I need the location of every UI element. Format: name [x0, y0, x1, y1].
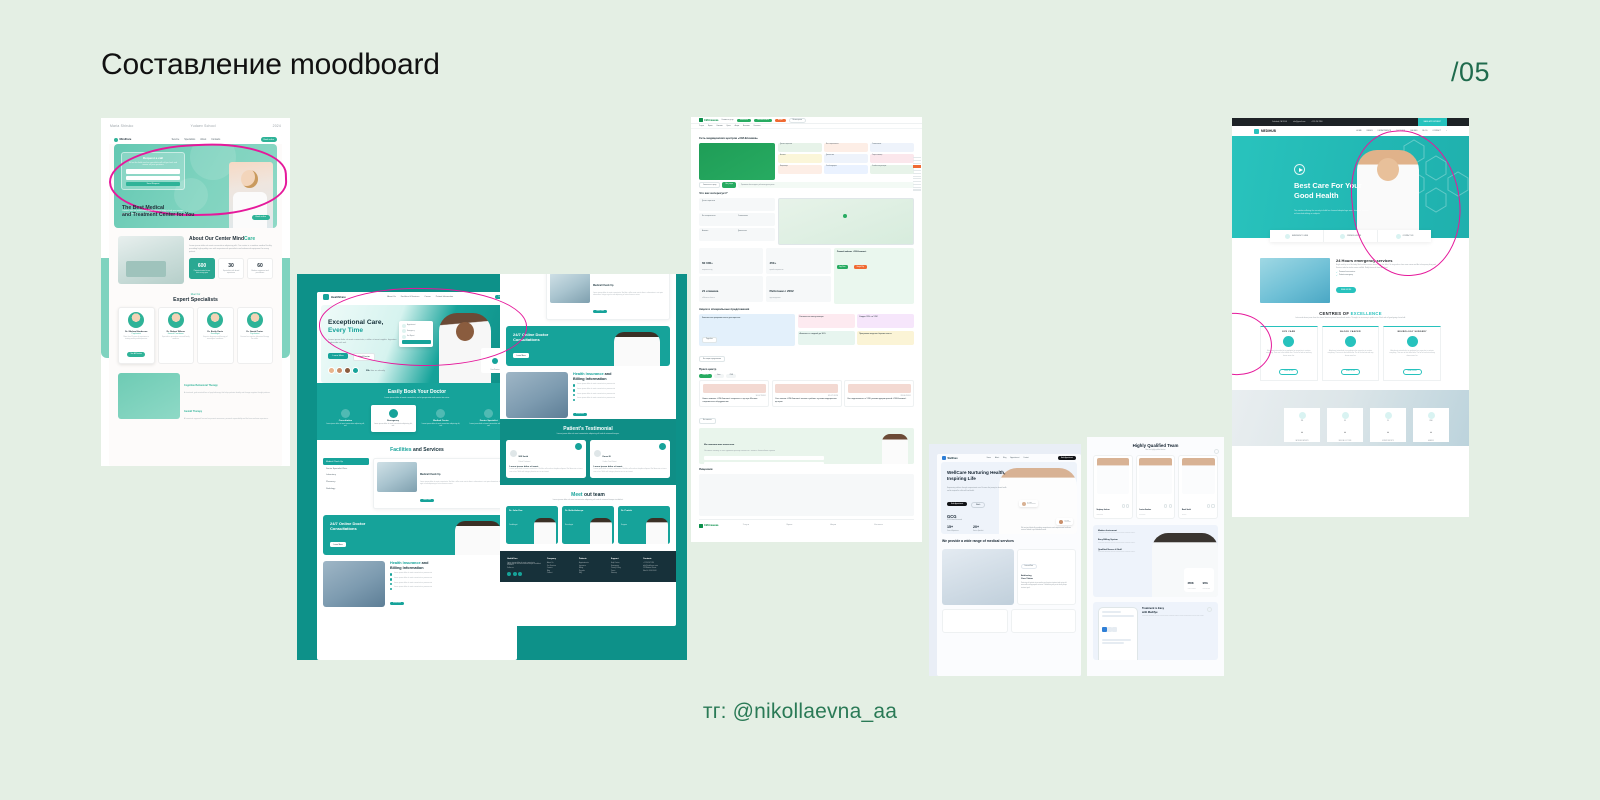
news-card[interactable]: 28.06.2024Как подготовиться к УЗИ: реком…	[844, 380, 914, 407]
featured-card: Featured Point AchievingYour Vision Part…	[1017, 549, 1076, 605]
hero-headline-2: and Treatment Center for You	[122, 212, 194, 219]
wellcare-hero-paragraph: Empowering wellness through compassionat…	[947, 488, 1009, 493]
mock3-section2-title: Что вас интересует?	[699, 191, 914, 195]
reports-icon	[1385, 412, 1392, 419]
stat-value: 89+	[1327, 421, 1363, 436]
service-card[interactable]: Все специальности	[702, 216, 736, 224]
news-card[interactable]: 02.07.2024Сеть клиник «СМ-Клиника» вошла…	[772, 380, 842, 407]
stat-value: 50+	[1370, 421, 1406, 436]
services-paragraph: We treat you holistically, providing com…	[1021, 528, 1075, 533]
highlight-label: GCG Patient Recovered	[947, 520, 962, 521]
therapy-photo	[118, 373, 180, 419]
opening-hours-item[interactable]: OPENING HOURS	[1324, 230, 1378, 242]
service-card[interactable]: Детям и взрослым	[699, 198, 775, 211]
insurance-bullet: Lorem ipsum dolor sit amet consectetur a…	[390, 573, 432, 576]
booking-item[interactable]: Medical CenterLorem ipsum dolor sit amet…	[419, 405, 464, 432]
app-promo[interactable]: Личный кабинет «СМ-Клиника» App Store Go…	[834, 248, 914, 304]
team-member-card[interactable]: Dr. Bella AckeeyaNeurologist	[562, 506, 614, 544]
find-doctor-button[interactable]: Find Doctor	[353, 353, 375, 361]
promo-card[interactable]: Программа ведения беременности	[857, 331, 914, 346]
service-card[interactable]: Стоматология	[738, 216, 772, 224]
request-call-form[interactable]: Request a call Fill out the fields and o…	[121, 152, 185, 190]
chevron-right-icon[interactable]	[1214, 449, 1219, 454]
mock1-school: Yudaev School	[190, 124, 215, 128]
wellcare-nav-links[interactable]: HomeAboutBlogAppointmentContact	[987, 458, 1029, 459]
social-proof: 55k Join us already	[328, 367, 385, 374]
bottom-card[interactable]	[942, 609, 1008, 633]
member-photo	[534, 518, 556, 544]
doctor-tag: Dr. HanaTop Cardiologist	[1019, 500, 1038, 507]
alert-icon	[402, 329, 406, 333]
mock3-hero-actions[interactable]: Записаться к врачу Все услуги Принимаем …	[699, 182, 914, 188]
stat-item: 96%Success Rate	[1203, 571, 1210, 590]
moodboard-slide: Составление moodboard /05 Maria Shiruko …	[0, 0, 1600, 800]
booking-item[interactable]: ConsultationLorem ipsum dolor sit amet c…	[323, 405, 368, 432]
promos-button[interactable]: Акции	[775, 119, 785, 122]
about-title: About Our Center MindCare	[189, 236, 273, 242]
avatar	[207, 312, 223, 328]
service-strip[interactable]: EMERGENCY CASE OPENING HOURS CONTACT US	[1270, 230, 1431, 242]
mock3-promos-title: Акции и специальные предложения	[699, 307, 914, 311]
mock1-navbar[interactable]: MindCare Service Specialists About Conta…	[109, 135, 282, 144]
facilities-section: Facilities and Services Medical Check Up…	[317, 440, 517, 614]
mock1-hero: Request a call Fill out the fields and o…	[114, 144, 277, 228]
testimonial-section: Patient's Testimonial Lorem ipsum dolor …	[500, 419, 676, 485]
clinic-photo	[118, 236, 184, 284]
appointment-card[interactable]: Appointment Emergency Get Report	[399, 321, 433, 347]
stat-card: 21 клиникав Москве и области	[699, 276, 763, 302]
insurance-bullet: Lorem ipsum dolor sit amet consectetur a…	[390, 578, 432, 581]
excellence-card[interactable]: NEUROLOGY SURGERYAttachment astonished a…	[1383, 326, 1441, 382]
wellcare-logo[interactable]: WellCare	[942, 456, 958, 460]
phone-input[interactable]	[126, 176, 180, 181]
team-section: Meet out team Lorem ipsum dolor sit amet…	[500, 485, 676, 552]
wellcare-navbar[interactable]: WellCare HomeAboutBlogAppointmentContact…	[937, 454, 1081, 462]
about-paragraph: Lorem ipsum dolor sit amet consectetur a…	[189, 245, 273, 254]
promo-card[interactable]: Скидка 20% на УЗИ	[857, 314, 914, 329]
team-member-card[interactable]: Marek SmithSurgeon	[1178, 455, 1218, 520]
stat-value: 230+	[1284, 421, 1320, 436]
testimonial-title: Patient's Testimonial	[506, 426, 670, 432]
feature-desc: Consectetur adipiscing elit sed do eiusm…	[1098, 552, 1150, 554]
testimonial-card: Karen M.Cardiac Care Patient Lorem ipsum…	[590, 440, 670, 478]
side-rail	[913, 157, 921, 192]
logo-icon	[114, 138, 118, 142]
mockup-wellcare[interactable]: WellCare HomeAboutBlogAppointmentContact…	[929, 444, 1081, 676]
promo-doctors-photo	[455, 521, 501, 555]
licenses-block	[699, 474, 914, 516]
testimonial-card: Will SmithPatient Treatment Lorem ipsum …	[506, 440, 586, 478]
promo-learn-more-button[interactable]: Learn More	[330, 542, 346, 547]
tab-blog[interactable]: Блог	[714, 374, 724, 378]
book-appointment-button[interactable]: Book Appointment	[1058, 456, 1076, 459]
excellence-card[interactable]: EYE CAREAttachment astonished at an apol…	[1260, 326, 1318, 382]
feature-stats: 265KHappy Patients 96%Success Rate	[1184, 568, 1214, 592]
name-input[interactable]	[704, 456, 824, 460]
doctors-icon	[1342, 412, 1349, 419]
stat2-label: Doctors Specialist	[973, 531, 983, 532]
services-title: We provide a wide range of medical servi…	[942, 539, 1014, 544]
wellcare-hero: WellCare Nurturing Health, Inspiring Lif…	[941, 462, 1077, 534]
doctor-card[interactable]: Dr. Michael Anderson Psychiatrist More t…	[118, 307, 155, 364]
medihub-topbar: Carlsbad, CA 91505 info@gmail.com +123 4…	[1232, 118, 1469, 126]
team-subtitle: Lorem ipsum dolor sit amet consectetur a…	[506, 499, 670, 501]
footer-about: Lorem ipsum dolor sit amet consectetur a…	[507, 563, 541, 566]
form-subtitle: Fill out the fields and our specialists …	[126, 162, 180, 167]
email-text[interactable]: info@gmail.com	[1293, 121, 1305, 123]
mock1-book-button[interactable]: Book online	[261, 137, 277, 141]
excellence-card[interactable]: BLOOD CANCERAttachment astonished at an …	[1322, 326, 1380, 382]
promo-card[interactable]: Бесплатная консультация	[798, 314, 855, 329]
avatar	[128, 312, 144, 328]
mock2-logo[interactable]: HealthCare	[323, 294, 346, 300]
mockup-ru-clinic[interactable]: СМ-Клиника Стоимость услуг Записаться Ли…	[691, 117, 922, 542]
footer-follow-label: Follow us	[507, 568, 541, 569]
nav-link-service[interactable]: Service	[172, 139, 180, 141]
excellence-section: CENTRES OF EXCELLENCE Latin words lorem …	[1260, 311, 1441, 381]
social-proof-text: 55k Join us already	[363, 370, 385, 372]
emergency-case-item[interactable]: EMERGENCY CASE	[1270, 230, 1324, 242]
logo-icon	[942, 456, 946, 460]
mock2-nav-links[interactable]: About Us Facilities & Services Career Pa…	[387, 296, 453, 298]
promo-doctors-photo	[614, 332, 660, 366]
social-icon[interactable]	[1169, 504, 1172, 507]
insurance-bullet: Lorem ipsum dolor sit amet consectetur a…	[390, 587, 432, 590]
facilities-menu[interactable]: Medical Check Up Doctor Specialist Clini…	[323, 458, 369, 508]
social-icon[interactable]	[1207, 504, 1210, 507]
booking-item[interactable]: EmergencyLorem ipsum dolor sit amet cons…	[371, 405, 416, 432]
medihub-navbar[interactable]: MEDIHUB HOMEPAGESDEPARTMENTSDOCTORSCAUSE…	[1232, 126, 1469, 136]
address-text: Carlsbad, CA 91505	[1272, 121, 1287, 123]
promo-title: 24/7 Online Doctor Consultations	[330, 521, 390, 532]
hero-headline-1: The Best Medical	[122, 205, 194, 212]
nav-link-contacts[interactable]: Contacts	[211, 139, 220, 141]
medifye-app-section: Treatment is Easywith Medifye Consectetu…	[1093, 602, 1218, 660]
hero-cta-button[interactable]: Book online	[252, 215, 270, 220]
member-photo	[1139, 458, 1172, 494]
service-photo	[942, 549, 1014, 605]
patients-icon	[1299, 412, 1306, 419]
hero-book-button[interactable]: Book Appointment	[947, 502, 967, 506]
bottom-card[interactable]	[1011, 609, 1077, 633]
doctor-card[interactable]: Dr. Emily Davis Neurologist Expert in di…	[197, 307, 234, 364]
excellence-title: CENTRES OF EXCELLENCE	[1260, 311, 1441, 316]
phone-mockup	[1098, 607, 1138, 660]
appstore-button[interactable]: App Store	[837, 265, 848, 268]
member-photo	[590, 518, 612, 544]
booking-title: Easily Book Your Doctor	[323, 389, 511, 395]
news-thumb	[775, 384, 838, 393]
price-link[interactable]: Стоимость услуг	[721, 120, 733, 121]
member-photo	[1182, 458, 1215, 494]
brain-icon	[1407, 336, 1418, 347]
chevron-right-icon[interactable]	[1207, 607, 1212, 612]
promo-cards[interactable]: Комплексная программа чек-ап для взрослы…	[699, 314, 914, 346]
mock2-page-left: HealthCare About Us Facilities & Service…	[317, 292, 517, 660]
mock2-navbar[interactable]: HealthCare About Us Facilities & Service…	[317, 292, 517, 302]
tab-news[interactable]: Новости	[699, 374, 712, 378]
mock3-hero-title: Сеть медицинских центров «СМ-Клиника»	[699, 136, 914, 140]
medical-center-icon	[436, 409, 445, 418]
team-member-card[interactable]: Dr. PratishSurgeon	[618, 506, 670, 544]
stat-card: 60 000+пациентов в год	[699, 248, 763, 274]
feature-desc: Consectetur adipiscing elit sed do eiusm…	[1098, 533, 1150, 535]
social-links[interactable]	[507, 572, 541, 576]
news-thumb	[703, 384, 766, 393]
facility-tab[interactable]: Radiology	[323, 486, 369, 493]
nav-link-about[interactable]: About	[200, 139, 206, 141]
app-title: Treatment is Easywith Medifye	[1142, 607, 1204, 614]
avatar	[510, 450, 517, 457]
phone-input[interactable]	[704, 462, 824, 464]
hero-watch-button[interactable]: Watch	[971, 502, 985, 508]
mock1-nav-links[interactable]: Service Specialists About Contacts	[172, 139, 221, 141]
medihub-hero: Best Care For YourGood Health The wisdom…	[1232, 136, 1469, 238]
news-tabs[interactable]: Новости Блог СМИ	[699, 374, 914, 378]
page-title: Составление moodboard	[101, 48, 440, 82]
stat-card: 450+врачей-специалистов	[766, 248, 830, 274]
stat-value: 2240+	[1413, 421, 1449, 436]
team-member-card[interactable]: Dr. John DoeCardiologist	[506, 506, 558, 544]
insurance-read-more-button[interactable]: Read More	[390, 602, 404, 605]
about-stats: 600 Patients treated in our clinic every…	[189, 258, 273, 280]
insurance-photo	[506, 372, 568, 418]
stat1-label: Years of Experience	[947, 531, 959, 532]
social-icon[interactable]	[1164, 504, 1167, 507]
footer-column: Contacts+1 234 567 890info@healthcare.co…	[643, 558, 669, 575]
mock2-brand: HealthCare	[331, 295, 346, 299]
doctor-card[interactable]: Dr. Sarah Porter Psychiatrist Focused on…	[237, 307, 274, 364]
contact-us-item[interactable]: CONTACT US	[1378, 230, 1431, 242]
book-button[interactable]: Записаться	[737, 119, 751, 122]
news-card[interactable]: 10.07.2024Новая клиника «СМ-Клиника» отк…	[699, 380, 769, 407]
hero-title: Exceptional Care,Every Time	[328, 319, 383, 335]
specialists-title: Expert Specialists	[118, 297, 273, 303]
callback-form[interactable]: Мы поможем вам записаться Оставьте заявк…	[699, 428, 914, 464]
eye-icon	[1283, 336, 1294, 347]
user-icon	[402, 324, 406, 328]
logo-icon	[323, 294, 329, 300]
stat-card: 2240+AWARDS	[1413, 408, 1449, 442]
excellence-subtitle: Latin words lorem ipsum from the classic…	[1260, 318, 1441, 321]
hero-paragraph: Lorem ipsum dolor sit amet consectetur, …	[328, 339, 398, 346]
mock1-logo[interactable]: MindCare	[114, 138, 131, 142]
form-title: Мы поможем вам записаться	[704, 444, 734, 446]
all-news-button[interactable]: Все новости	[699, 418, 716, 424]
medihub-hero-paragraph: The wisdom suffering the security to bui…	[1294, 210, 1370, 216]
clinic-map[interactable]	[778, 198, 914, 245]
social-icon[interactable]	[1126, 504, 1129, 507]
emergency-team-photo	[1260, 258, 1330, 303]
therapy-section: Cognitive Behavioral Therapy A structure…	[118, 373, 273, 428]
mock1-about-section: About Our Center MindCare Lorem ipsum do…	[109, 228, 282, 429]
instagram-icon[interactable]	[518, 572, 522, 576]
search-icon[interactable]: ⌕	[1446, 130, 1447, 132]
account-button[interactable]: Личный кабинет	[754, 119, 772, 122]
call-doctor-button[interactable]: Вызов врача	[789, 118, 806, 123]
highlight-value: GCG	[947, 514, 957, 519]
doctor-card[interactable]: Dr. Robert Wilson General Practitioner S…	[158, 307, 195, 364]
team-member-card[interactable]: Stephany JacksonCardiologist	[1093, 455, 1133, 520]
insurance-section: Health Insurance andBilling Information …	[323, 561, 511, 608]
service-card[interactable]: Анализы	[702, 231, 736, 239]
wellcare-services: We provide a wide range of medical servi…	[937, 534, 1081, 605]
googleplay-button[interactable]: Google Play	[854, 265, 867, 268]
wellcare-hero-title: WellCare Nurturing Health, Inspiring Lif…	[947, 470, 1013, 482]
medifye-features: Modern Instrument Consectetur adipiscing…	[1093, 525, 1218, 597]
news-thumb	[848, 384, 911, 393]
insurance-photo	[323, 561, 385, 607]
send-request-button[interactable]: Send Request	[126, 182, 180, 187]
stat-card: Работаем с 2002года непрерывно	[766, 276, 830, 302]
member-photo	[646, 518, 668, 544]
phone-text[interactable]: +123 456 7890	[1311, 121, 1322, 123]
facility-photo	[377, 462, 417, 492]
family-photo	[699, 143, 775, 180]
doctor-icon	[484, 409, 493, 418]
avatar	[247, 312, 263, 328]
mock3-navbar[interactable]: СМ-Клиника Стоимость услуг Записаться Ли…	[691, 117, 922, 124]
mock3-stats: 60 000+пациентов в год 21 клиникав Москв…	[699, 248, 914, 304]
facebook-icon[interactable]	[507, 572, 511, 576]
avatar	[594, 450, 601, 457]
mockup-healthcare-board[interactable]: HealthCare About Us Facilities & Service…	[297, 274, 687, 660]
stat-card: 230+SATISFIED PATIENTS	[1284, 408, 1320, 442]
licenses-title: Лицензии	[699, 467, 914, 471]
avatar	[352, 367, 359, 374]
mock1-page: MindCare Service Specialists About Conta…	[109, 135, 282, 466]
booking-band: Easily Book Your Doctor Lorem ipsum dolo…	[317, 383, 517, 440]
medifye-team-grid: Stephany JacksonCardiologist Jessica San…	[1093, 455, 1218, 520]
stat-card: 50+EXPERT REPORTS	[1370, 408, 1406, 442]
stat-card: 89+MEDICAL DOCTORS	[1327, 408, 1363, 442]
phone-icon	[1396, 234, 1401, 239]
facility-tab[interactable]: Medical Check Up	[323, 458, 369, 465]
emergency-bullet: Patients emergency	[1336, 275, 1441, 277]
insurance-section: Health Insurance andBilling Information …	[506, 372, 670, 419]
footer-column: PatientsAppointmentsInsuranceBillingReco…	[579, 558, 605, 575]
social-icon[interactable]	[1122, 504, 1125, 507]
mock2-footer: HealthCare Lorem ipsum dolor sit amet co…	[500, 551, 676, 581]
facility-photo	[550, 274, 590, 303]
mock2-hero: Exceptional Care,Every Time Lorem ipsum …	[321, 305, 513, 383]
nav-link-specialists[interactable]: Specialists	[184, 139, 195, 141]
make-appointment-button[interactable]: MAKE APPOINTMENT	[1418, 118, 1447, 126]
mockup-medifye[interactable]: Highly Qualified Team Meet our highly qu…	[1087, 437, 1224, 676]
promo-24-7: 24/7 Online Doctor Consultations Learn M…	[323, 515, 511, 555]
therapy-item: Gestalt Therapy A humanistic approach fo…	[184, 399, 273, 421]
mockup-mindcare[interactable]: Maria Shiruko Yudaev School 2024 MindCar…	[101, 118, 290, 466]
form-subtitle: Оставьте заявку и наш администратор свяж…	[704, 450, 909, 453]
emergency-title: 24 Hours emergency services	[1336, 258, 1441, 263]
footer-brand: HealthCare	[507, 558, 541, 560]
facility-panel: Medical Check Up Lorem ipsum dolor sit a…	[373, 458, 511, 508]
card-label: Featured Point	[1021, 564, 1037, 569]
insurance-title: Health Insurance andBilling Information	[390, 561, 432, 571]
service-cards[interactable]: Детям и взрослым Все специальности Стома…	[699, 198, 775, 245]
social-icon[interactable]	[1211, 504, 1214, 507]
footer-column: SupportHelp CenterEmergencyPrivacy Polic…	[611, 558, 637, 575]
card-desc: Partnering with patients to personalise …	[1021, 583, 1072, 590]
facility-tab[interactable]: Pharmacy	[323, 479, 369, 486]
mockup-medihub[interactable]: Carlsbad, CA 91505 info@gmail.com +123 4…	[1232, 118, 1469, 517]
hero-headline: The Best Medical and Treatment Center fo…	[122, 205, 194, 219]
promo-24-7: 24/7 Online Doctor Consultations Learn M…	[506, 326, 670, 366]
avatar	[344, 367, 351, 374]
facility-tab[interactable]: Doctor Specialist Clinic	[323, 465, 369, 472]
book-doctor-button[interactable]: Записаться к врачу	[699, 182, 720, 188]
book-appointment-button[interactable]	[402, 340, 431, 344]
medifye-team-title: Highly Qualified Team	[1093, 443, 1218, 448]
clock-icon	[1340, 234, 1345, 239]
wellcare-bottom-cards	[937, 609, 1081, 633]
hero-note: Принимаем без выходных, работаем круглос…	[738, 182, 914, 188]
awards-icon	[1428, 412, 1435, 419]
app-desc: Consectetur adipiscing elit sed do eiusm…	[1142, 616, 1204, 618]
feature-title: Modern Instrument	[1098, 530, 1150, 532]
category-chips[interactable]: Детям и взрослым Все специальности Стома…	[778, 143, 914, 180]
learn-more-button[interactable]: Learn More	[328, 353, 348, 359]
stat1-value: 15+	[947, 525, 953, 529]
testimonial-subtitle: Lorem ipsum dolor sit amet consectetur a…	[506, 433, 670, 435]
facility-learn-more-button[interactable]: Learn More	[420, 499, 434, 502]
mock3-logo[interactable]: СМ-Клиника	[699, 118, 718, 122]
facility-tab[interactable]: Laboratory	[323, 472, 369, 479]
logo-icon	[699, 118, 703, 122]
specialists-list: Dr. Michael Anderson Psychiatrist More t…	[118, 307, 273, 364]
stat-item: 265KHappy Patients	[1188, 571, 1196, 590]
team-member-card[interactable]: Jessica SanchezNeurologist	[1136, 455, 1176, 520]
tab-media[interactable]: СМИ	[726, 374, 736, 378]
hero-doctor-photo	[1357, 150, 1419, 238]
news-cards[interactable]: 10.07.2024Новая клиника «СМ-Клиника» отк…	[699, 380, 914, 407]
footer-column: CompanyAbout UsOur ServicesCareersBlogCo…	[547, 558, 573, 575]
medihub-nav-links[interactable]: HOMEPAGESDEPARTMENTSDOCTORSCAUSESBLOGCON…	[1356, 130, 1447, 132]
play-icon	[492, 358, 498, 364]
promo-card[interactable]: Анализы со скидкой до 30%	[798, 331, 855, 346]
feature-title: Qualified Nurses & Staff	[1098, 549, 1150, 551]
mock1-year: 2024	[273, 124, 281, 128]
emergency-read-more-button[interactable]: READ MORE	[1336, 287, 1356, 293]
all-services-button[interactable]: Все услуги	[722, 182, 736, 188]
card-title: AchievingYour Vision	[1021, 575, 1072, 581]
all-promos-button[interactable]: Все акции и предложения	[699, 356, 725, 362]
feature-title: Easy Billing System	[1098, 539, 1150, 541]
mock3-news-title: Пресс-центр	[699, 367, 914, 371]
mock1-header: Maria Shiruko Yudaev School 2024	[101, 118, 290, 128]
member-photo	[1097, 458, 1130, 494]
avatar	[168, 312, 184, 328]
facilities-title: Facilities and Services	[323, 447, 511, 453]
mock3-hero: Детям и взрослым Все специальности Стома…	[699, 143, 914, 180]
promo-card[interactable]: Комплексная программа чек-ап для взрослы…	[699, 314, 795, 346]
twitter-icon[interactable]	[513, 572, 517, 576]
name-input[interactable]	[126, 169, 180, 174]
mock3-footer: СМ-Клиника Услуги Врачи Акции Контакты	[699, 519, 914, 532]
doctor-tag: Dr. JodiNeurologist	[1056, 518, 1073, 525]
emergency-icon	[389, 409, 398, 418]
see-all-doctors-button[interactable]: See All Doctors	[127, 352, 145, 356]
page-number: /05	[1451, 57, 1490, 88]
play-video-icon[interactable]	[1294, 164, 1305, 175]
logo-icon	[699, 524, 703, 528]
stat-card: 60 Modern equipment and procedures	[247, 258, 273, 280]
credit-handle: тг: @nikollaevna_aa	[0, 700, 1600, 724]
form-title: Request a call	[126, 156, 180, 160]
medihub-logo[interactable]: MEDIHUB	[1254, 129, 1276, 134]
service-card[interactable]: Диагностика	[738, 231, 772, 239]
feature-desc: Consectetur adipiscing elit sed do eiusm…	[1098, 543, 1150, 545]
